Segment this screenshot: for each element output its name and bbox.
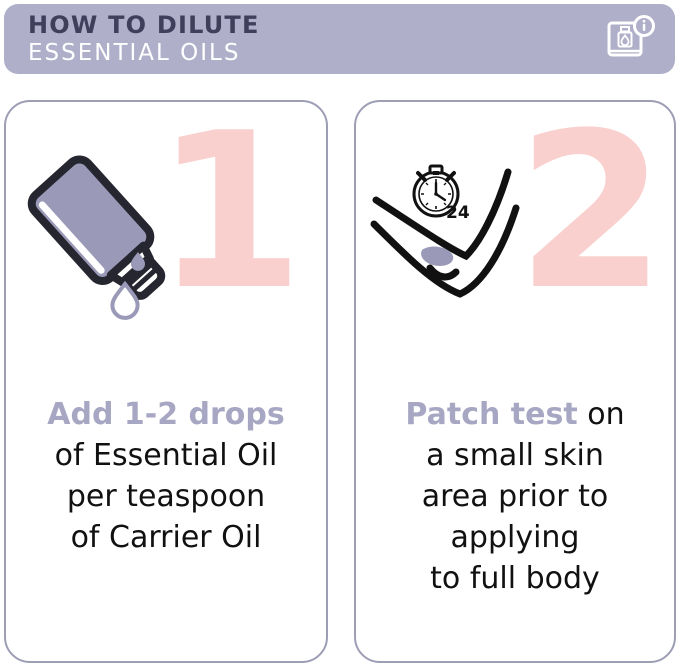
card-1-caption-highlight: Add 1-2 drops (47, 397, 284, 432)
card-1-caption-line-1: of Essential Oil (12, 435, 320, 476)
card-1-caption-line-2: per teaspoon (12, 476, 320, 517)
stopwatch-hours-label: 24 (446, 203, 470, 223)
card-2-caption-line-4: to full body (362, 558, 668, 599)
banner-title-main: HOW TO DILUTE (28, 12, 260, 39)
header-banner: HOW TO DILUTE ESSENTIAL OILS (4, 4, 675, 74)
card-2-caption-highlight: Patch test (405, 397, 577, 432)
card-2-caption-line-1: a small skin (362, 435, 668, 476)
card-2-caption-highlight-suffix: on (578, 397, 625, 432)
card-1-caption-line-3: of Carrier Oil (12, 517, 320, 558)
patch-test-arm-illustration: 24 (368, 142, 568, 346)
step-card-1: 1 Add 1-2 drops of Essential Oil (4, 100, 328, 663)
card-2-caption: Patch test on a small skin area prior to… (356, 394, 674, 599)
stopwatch-icon: 24 (414, 166, 470, 223)
card-2-caption-line-2: area prior to (362, 476, 668, 517)
banner-title-sub: ESSENTIAL OILS (28, 39, 260, 67)
step-card-2: 2 24 (354, 100, 676, 663)
banner-text-block: HOW TO DILUTE ESSENTIAL OILS (28, 12, 260, 67)
card-2-caption-line-3: applying (362, 517, 668, 558)
card-1-caption: Add 1-2 drops of Essential Oil per teasp… (6, 394, 326, 558)
dropper-bottle-illustration (20, 132, 200, 336)
oil-bottle-info-icon (605, 13, 657, 65)
